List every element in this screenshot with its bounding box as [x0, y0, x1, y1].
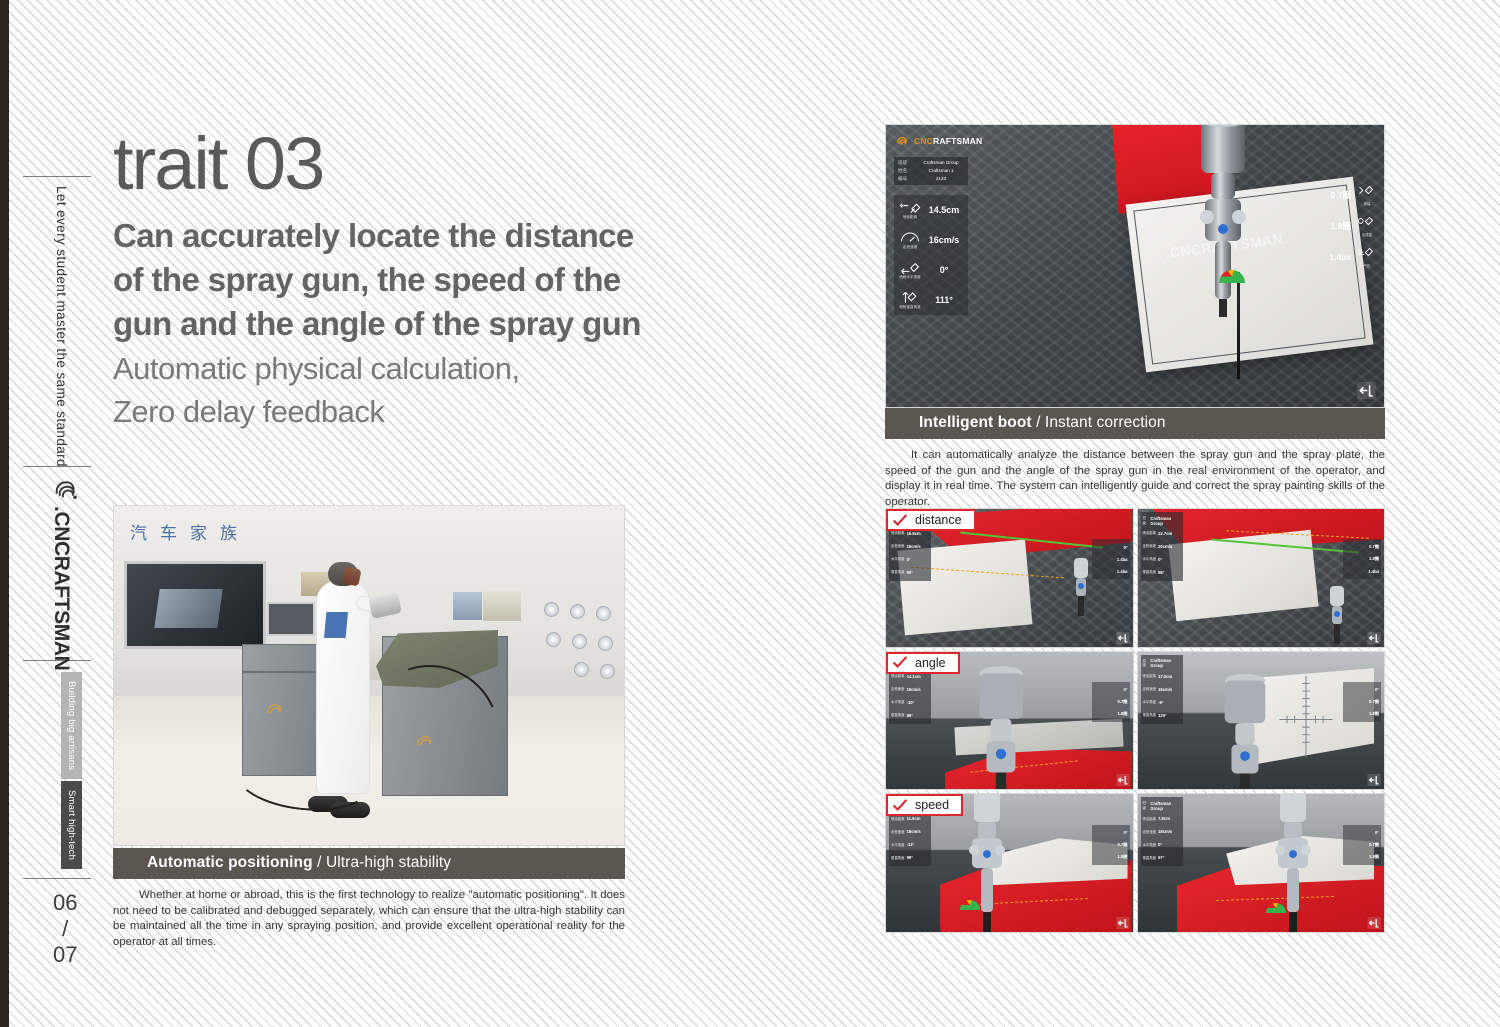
- ar-scene: .CNCRAFTSMAN: [886, 125, 1384, 407]
- panel-hud-right-row: 0.7圈: [1345, 839, 1379, 851]
- panel-hud-right-row: 0°: [1094, 684, 1128, 696]
- red-check-icon: [892, 799, 908, 812]
- pressure-icon: 气压: [1356, 245, 1378, 268]
- panel-hud-row: 班级Craftsman Group: [1143, 799, 1181, 812]
- panel-hud-right: 0° 0.7圈 1.8圈: [1092, 682, 1130, 722]
- badge-smart-high-tech: Smart high-tech: [61, 781, 82, 869]
- hud-logo-orange: CNC: [914, 136, 933, 146]
- panel-hud-right-row: 0°: [1094, 541, 1128, 553]
- ar-body-copy: It can automatically analyze the distanc…: [885, 448, 1385, 510]
- training-photo-caption-bar: Automatic positioning / Ultra-high stabi…: [113, 848, 625, 879]
- panel-hud-right-value: 1.8圈: [1369, 854, 1379, 860]
- panel-hud-right-value: 0.7圈: [1369, 699, 1379, 705]
- spray-distance-icon: 喷涂距离: [897, 201, 923, 220]
- wall-display-large: [124, 561, 266, 649]
- spray-gun-3d: [970, 663, 1032, 791]
- panel-hud-value: 11.9cm: [907, 816, 921, 821]
- panel-hud-value: Craftsman Group: [1150, 658, 1180, 668]
- panel-hud-row: 水平角度-10°: [891, 696, 929, 709]
- panel-hud-value: 18cm/s: [907, 829, 921, 834]
- panel-hud-value: 16cm/s: [907, 687, 921, 692]
- panel-hud-value: 14.1cm: [907, 674, 921, 679]
- panel-hud-right-row: 0°: [1345, 684, 1379, 696]
- exit-arrow-icon[interactable]: [1367, 632, 1381, 644]
- hud-logo-white: RAFTSMAN: [933, 136, 982, 146]
- panel-hud-left: 班级Craftsman Group 喷涂距离22.7cm 走枪速度20cm/s …: [1141, 512, 1183, 581]
- exit-arrow-icon[interactable]: [1357, 382, 1376, 399]
- panel-hud-right-row: 1.4ba: [1345, 565, 1379, 577]
- sidebar-divider-1: [23, 176, 91, 177]
- panel-hud-row: 垂直角度90°: [891, 566, 929, 579]
- training-caption-separator: /: [313, 854, 326, 871]
- sidebar-brand-name: .CNCRAFTSMAN: [49, 506, 73, 670]
- tag-angle: angle: [886, 652, 960, 674]
- page-number: 06 / 07: [53, 890, 77, 968]
- panel-hud-label: 喷涂距离: [1143, 674, 1157, 679]
- panel-hud-label: 垂直角度: [891, 856, 905, 861]
- panel-hud-right-row: 1.8圈: [1345, 553, 1379, 565]
- panel-hud-row: 走枪速度18cm/s: [1143, 825, 1181, 838]
- panel-hud-left: 班级Craftsman Group 喷涂距离17.0cm 走枪速度16cm/s …: [1141, 655, 1183, 724]
- cncraftsman-swirl-logo: [51, 474, 81, 504]
- hud-info-value: Craftsman Group: [918, 160, 964, 166]
- panel-angle-left: 班级Craftsman Group 喷涂距离14.1cm 走枪速度16cm/s …: [885, 651, 1134, 791]
- panel-hud-label: 班级: [1143, 801, 1149, 810]
- hud-right-cn: 气压: [1356, 263, 1378, 268]
- panel-hud-right-value: 1.8圈: [1369, 556, 1379, 562]
- panel-hud-right-row: 0.7圈: [1094, 839, 1128, 851]
- spray-gun-3d: [960, 793, 1014, 933]
- panel-hud-right: 0° 0.7圈 1.8圈: [1343, 682, 1381, 722]
- speed-gauge-icon: 走枪速度: [897, 231, 923, 250]
- hud-info-key: 班级: [898, 160, 915, 166]
- hud-info-value: Craftsman 1: [918, 168, 964, 174]
- subheadline-line-2: Zero delay feedback: [113, 391, 643, 432]
- panel-hud-value: 99°: [907, 855, 913, 860]
- panel-hud-label: 班级: [1143, 659, 1149, 668]
- panel-hud-right-row: 1.4ba: [1094, 553, 1128, 565]
- ar-caption: Intelligent boot / Instant correction: [885, 408, 1385, 439]
- panel-hud-label: 走枪速度: [891, 544, 905, 549]
- tag-distance: distance: [886, 509, 976, 531]
- panel-hud-label: 走枪速度: [1143, 687, 1157, 692]
- ar-photo-caption-bar: Intelligent boot / Instant correction: [885, 408, 1385, 439]
- cabinet-logo-left: [264, 698, 294, 718]
- ar-simulation-photo: .CNCRAFTSMAN: [885, 124, 1385, 408]
- exit-arrow-icon[interactable]: [1116, 917, 1130, 929]
- panel-hud-value: 16.8cm: [907, 531, 921, 536]
- exit-arrow-icon[interactable]: [1116, 632, 1130, 644]
- panel-hud-label: 垂直角度: [1143, 713, 1157, 718]
- panel-hud-label: 垂直角度: [891, 570, 905, 575]
- suit-emblem: [324, 612, 348, 638]
- panel-hud-right: 0.7圈 1.8圈 1.4ba: [1343, 539, 1381, 579]
- panel-hud-row: 走枪速度16cm/s: [1143, 683, 1181, 696]
- hud-metric-cn: 喷枪垂直角度: [897, 305, 923, 310]
- hud-metric-value: 14.5cm: [923, 205, 965, 215]
- spray-gun-3d: [1320, 584, 1354, 644]
- simulation-panel-grid: 班级Craftsman Group 喷涂距离16.8cm 走枪速度18cm/s …: [885, 508, 1385, 933]
- panel-hud-row: 班级Craftsman Group: [1143, 657, 1181, 670]
- training-room-photo: 汽车家族: [113, 505, 625, 846]
- page-number-separator: /: [53, 916, 77, 942]
- hud-student-info-table: 班级 Craftsman Group 姓名 Craftsman 1 编号 212…: [894, 157, 968, 185]
- fan-adjust-icon: 扇幅: [1356, 183, 1378, 206]
- exit-arrow-icon[interactable]: [1116, 774, 1130, 786]
- sidebar-tagline: Let every student master the same standa…: [54, 186, 69, 467]
- panel-hud-right-value: 1.8圈: [1369, 711, 1379, 717]
- panel-hud-label: 喷涂距离: [891, 531, 905, 536]
- panel-hud-right-row: 1.8圈: [1094, 708, 1128, 720]
- hud-info-value: 2123: [918, 176, 964, 182]
- flow-adjust-icon: 出漆量: [1356, 214, 1378, 237]
- panel-hud-right-row: 1.4ba: [1094, 565, 1128, 577]
- panel-hud-label: 水平角度: [891, 557, 905, 562]
- panel-hud-row: 垂直角度99°: [891, 851, 929, 864]
- panel-hud-right-row: 1.8圈: [1094, 851, 1128, 863]
- red-check-icon: [892, 514, 908, 527]
- panel-hud-value: -10°: [907, 700, 915, 705]
- panel-hud-right-value: 1.4ba: [1117, 569, 1128, 574]
- hud-metric-cn: 喷枪水平角度: [897, 275, 923, 280]
- brand-text: CNCRAFTSMAN: [50, 511, 73, 670]
- panel-hud-value: 17.0cm: [1158, 674, 1172, 679]
- panel-hud-row: 走枪速度20cm/s: [1143, 540, 1181, 553]
- hud-logo-text: CNCRAFTSMAN: [914, 136, 982, 146]
- training-room-scene: 汽车家族: [114, 506, 624, 845]
- cncraftsman-swirl-logo: [895, 133, 910, 148]
- panel-hud-row: 喷涂距离7.8cm: [1143, 812, 1181, 825]
- spray-gun-3d: [1177, 124, 1269, 317]
- panel-hud-label: 班级: [1143, 516, 1149, 525]
- ar-caption-bold: Intelligent boot: [919, 414, 1032, 431]
- panel-hud-label: 喷涂距离: [891, 817, 905, 822]
- spray-gun-3d: [1216, 671, 1274, 790]
- panel-angle-right: 班级Craftsman Group 喷涂距离17.0cm 走枪速度16cm/s …: [1137, 651, 1386, 791]
- panel-hud-value: Craftsman Group: [1150, 516, 1180, 526]
- panel-hud-row: 水平角度-13°: [891, 838, 929, 851]
- hud-metrics-panel: 喷涂距离 14.5cm 走枪速度 16cm/s: [894, 195, 968, 315]
- panel-hud-label: 水平角度: [1143, 843, 1157, 848]
- panel-hud-label: 走枪速度: [891, 687, 905, 692]
- brochure-page: Let every student master the same standa…: [0, 0, 1500, 1027]
- panel-hud-label: 垂直角度: [1143, 570, 1157, 575]
- training-caption-light: Ultra-high stability: [326, 854, 451, 871]
- training-caption-bold: Automatic positioning: [147, 854, 313, 871]
- panel-hud-label: 垂直角度: [1143, 856, 1157, 861]
- panel-hud-value: 18cm/s: [907, 544, 921, 549]
- panel-hud-right-value: 1.4ba: [1368, 569, 1379, 574]
- panel-hud-value: -9°: [1158, 700, 1163, 705]
- subheadline-line-1: Automatic physical calculation,: [113, 348, 643, 389]
- panel-hud-value: 18cm/s: [1158, 829, 1172, 834]
- panel-hud-right-value: 0°: [1123, 545, 1127, 550]
- hud-metric-cn: 喷涂距离: [897, 215, 923, 220]
- panel-hud-value: 98°: [1158, 570, 1164, 575]
- panel-hud-right-value: 0.7圈: [1369, 842, 1379, 848]
- panel-hud-label: 垂直角度: [891, 713, 905, 718]
- tag-speed: speed: [886, 794, 963, 816]
- panel-hud-right-value: 0°: [1123, 687, 1127, 692]
- gun-stand-rod: [1237, 272, 1240, 379]
- panel-hud-right-row: 0.7圈: [1345, 541, 1379, 553]
- panel-hud-right: 0° 0.7圈 1.8圈: [1092, 825, 1130, 865]
- hud-right-value: 1.8圈: [1331, 220, 1351, 232]
- panel-hud-value: 90°: [907, 570, 913, 575]
- panel-hud-right-row: 1.8圈: [1345, 708, 1379, 720]
- hud-metric-cn: 走枪速度: [897, 245, 923, 250]
- panel-hud-row: 水平角度0°: [891, 553, 929, 566]
- exit-arrow-icon[interactable]: [1367, 917, 1381, 929]
- tag-label: speed: [915, 798, 949, 812]
- hud-info-key: 姓名: [898, 168, 915, 174]
- panel-hud-row: 垂直角度98°: [1143, 566, 1181, 579]
- hud-brand-logo: CNCRAFTSMAN: [895, 133, 982, 148]
- ar-caption-light: Instant correction: [1045, 414, 1166, 431]
- red-check-icon: [892, 656, 908, 669]
- panel-distance-right: 班级Craftsman Group 喷涂距离22.7cm 走枪速度20cm/s …: [1137, 508, 1386, 648]
- panel-hud-label: 走枪速度: [1143, 544, 1157, 549]
- panel-hud-row: 垂直角度97°: [1143, 851, 1181, 864]
- panel-hud-value: 0°: [1158, 842, 1162, 847]
- panel-hud-label: 走枪速度: [1143, 830, 1157, 835]
- hud-metric-value: 0°: [923, 265, 965, 275]
- panel-hud-label: 走枪速度: [891, 830, 905, 835]
- hud-right-metrics-panel: 0.7圈 扇幅 1.8圈 出漆量 1.4: [1300, 179, 1378, 272]
- panel-hud-row: 水平角度-9°: [1143, 696, 1181, 709]
- hud-right-cn: 出漆量: [1356, 232, 1378, 237]
- tag-label: distance: [915, 513, 962, 527]
- sidebar-badges: Building big artisans Smart high-tech: [61, 672, 82, 869]
- hud-right-value: 0.7圈: [1331, 189, 1351, 201]
- panel-hud-label: 水平角度: [1143, 700, 1157, 705]
- panel-hud-right-value: 0.7圈: [1117, 699, 1127, 705]
- hud-info-key: 编号: [898, 176, 915, 182]
- hud-right-metric-row: 1.4ba 气压: [1300, 241, 1378, 272]
- tag-label: angle: [915, 656, 946, 670]
- panel-hud-row: 喷涂距离22.7cm: [1143, 527, 1181, 540]
- measurement-ruler-icon: [1276, 674, 1336, 759]
- wall-brand-logos: [544, 602, 620, 684]
- sidebar-divider-4: [23, 878, 91, 879]
- panel-hud-right-row: 1.8圈: [1345, 851, 1379, 863]
- panel-hud-right-value: 0.7圈: [1369, 544, 1379, 550]
- page-number-right: 07: [53, 942, 77, 968]
- panel-hud-right-value: 0°: [1375, 687, 1379, 692]
- headline: Can accurately locate the distance of th…: [113, 214, 643, 346]
- hud-right-metric-row: 0.7圈 扇幅: [1300, 179, 1378, 210]
- wall-display-small: [267, 602, 315, 636]
- panel-hud-row: 班级Craftsman Group: [1143, 514, 1181, 527]
- panel-hud-label: 喷涂距离: [891, 674, 905, 679]
- hud-right-cn: 扇幅: [1356, 201, 1378, 206]
- panel-hud-row: 走枪速度16cm/s: [891, 683, 929, 696]
- panel-hud-right-value: 0.7圈: [1117, 842, 1127, 848]
- panel-hud-left: 班级Craftsman Group 喷涂距离7.8cm 走枪速度18cm/s 水…: [1141, 797, 1183, 866]
- panel-hud-right-row: 0°: [1094, 827, 1128, 839]
- panel-hud-right-value: 1.4ba: [1117, 557, 1128, 562]
- spray-plate: [1168, 529, 1318, 621]
- panel-hud-right-row: 0.7圈: [1345, 696, 1379, 708]
- page-title: trait 03: [113, 126, 643, 202]
- panel-hud-right-row: 0°: [1345, 827, 1379, 839]
- panel-hud-value: 120°: [1158, 713, 1167, 718]
- horizontal-angle-icon: 喷枪水平角度: [897, 261, 923, 280]
- vertical-angle-icon: 喷枪垂直角度: [897, 291, 923, 310]
- panel-hud-label: 喷涂距离: [1143, 817, 1157, 822]
- panel-hud-row: 水平角度0°: [1143, 553, 1181, 566]
- panel-hud-row: 水平角度0°: [1143, 838, 1181, 851]
- panel-hud-right-value: 0°: [1375, 830, 1379, 835]
- badge-building-big-artisans: Building big artisans: [61, 672, 82, 779]
- training-caption: Automatic positioning / Ultra-high stabi…: [113, 848, 625, 879]
- hud-metric-row: 走枪速度 16cm/s: [894, 225, 968, 255]
- panel-speed-left: 班级Craftsman Group 喷涂距离11.9cm 走枪速度18cm/s …: [885, 793, 1134, 933]
- panel-hud-value: Craftsman Group: [1150, 801, 1180, 811]
- hud-right-value: 1.4ba: [1329, 252, 1351, 262]
- page-number-left: 06: [53, 890, 77, 916]
- hud-metric-row: 喷枪垂直角度 111°: [894, 285, 968, 315]
- panel-hud-label: 水平角度: [1143, 557, 1157, 562]
- exit-arrow-icon[interactable]: [1367, 774, 1381, 786]
- panel-hud-value: 7.8cm: [1158, 816, 1170, 821]
- training-body-copy: Whether at home or abroad, this is the f…: [113, 888, 625, 950]
- panel-hud-value: 0°: [1158, 557, 1162, 562]
- left-text-column: trait 03 Can accurately locate the dista…: [113, 0, 643, 432]
- hud-metric-row: 喷涂距离 14.5cm: [894, 195, 968, 225]
- hud-metric-row: 喷枪水平角度 0°: [894, 255, 968, 285]
- panel-hud-value: -13°: [907, 842, 915, 847]
- panel-hud-value: 20cm/s: [1158, 544, 1172, 549]
- sidebar-brand: .CNCRAFTSMAN: [45, 474, 93, 670]
- panel-hud-right-value: 0°: [1123, 830, 1127, 835]
- panel-distance-left: 班级Craftsman Group 喷涂距离16.8cm 走枪速度18cm/s …: [885, 508, 1134, 648]
- panel-hud-row: 走枪速度18cm/s: [891, 540, 929, 553]
- wall-poster-3: [482, 590, 522, 622]
- panel-hud-row: 喷涂距离17.0cm: [1143, 670, 1181, 683]
- panel-speed-right: 班级Craftsman Group 喷涂距离7.8cm 走枪速度18cm/s 水…: [1137, 793, 1386, 933]
- wall-chinese-text: 汽车家族: [130, 519, 250, 544]
- hud-metric-value: 111°: [923, 295, 965, 305]
- panel-hud-value: 97°: [1158, 855, 1164, 860]
- panel-hud-row: 垂直角度96°: [891, 709, 929, 722]
- panel-hud-right-value: 1.8圈: [1117, 854, 1127, 860]
- panel-hud-value: 0°: [907, 557, 911, 562]
- spray-gun-3d: [1064, 556, 1098, 616]
- panel-hud-value: 22.7cm: [1158, 531, 1172, 536]
- left-sidebar: Let every student master the same standa…: [9, 0, 104, 1027]
- panel-hud-label: 水平角度: [891, 700, 905, 705]
- panel-hud-label: 喷涂距离: [1143, 531, 1157, 536]
- hud-metric-value: 16cm/s: [923, 235, 965, 245]
- panel-hud-label: 水平角度: [891, 843, 905, 848]
- panel-hud-right: 0° 0.7圈 1.8圈: [1343, 825, 1381, 865]
- panel-hud-right-value: 1.8圈: [1117, 711, 1127, 717]
- hud-right-metric-row: 1.8圈 出漆量: [1300, 210, 1378, 241]
- panel-hud-value: 16cm/s: [1158, 687, 1172, 692]
- panel-hud-row: 垂直角度120°: [1143, 709, 1181, 722]
- panel-hud-right-row: 0.7圈: [1094, 696, 1128, 708]
- panel-hud-row: 走枪速度18cm/s: [891, 825, 929, 838]
- panel-hud-value: 96°: [907, 713, 913, 718]
- ar-caption-separator: /: [1032, 414, 1045, 431]
